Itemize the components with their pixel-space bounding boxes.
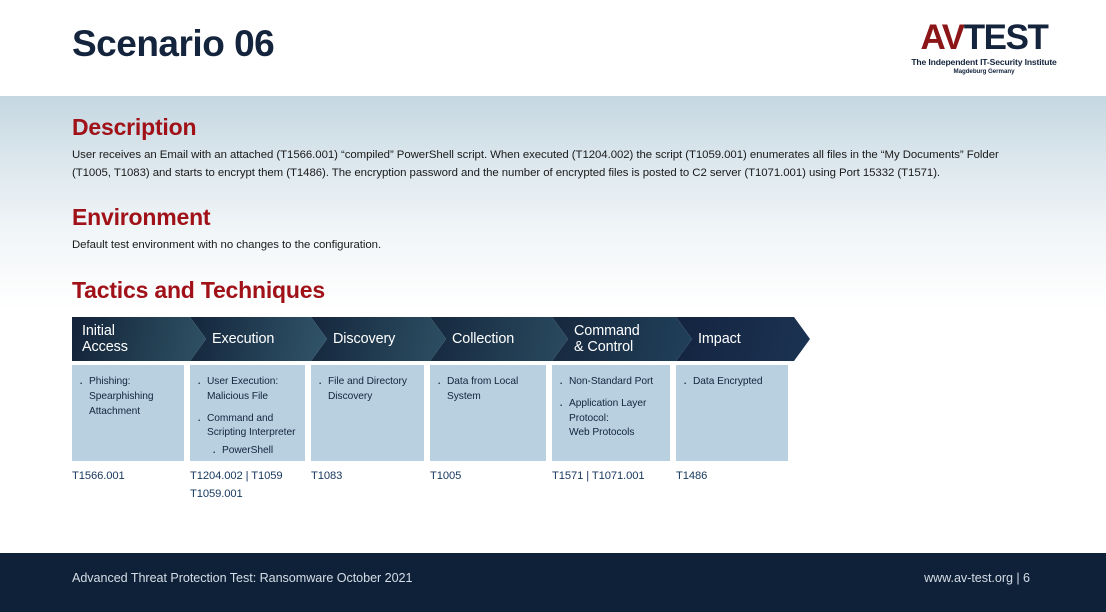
tactic-chevron: Impact <box>676 317 810 361</box>
technique-list: Data Encrypted <box>682 375 780 390</box>
tactic-label: Execution <box>200 331 274 347</box>
technique-item: Phishing: Spearphishing Attachment <box>78 375 176 419</box>
tactic-chevron: Collection <box>430 317 568 361</box>
logo-wordmark: AVTEST <box>904 20 1064 55</box>
technique-cell: Data Encrypted <box>676 365 788 461</box>
footer-url-and-page: www.av-test.org | 6 <box>924 571 1030 585</box>
av-test-logo: AVTEST The Independent IT-Security Insti… <box>904 20 1064 75</box>
environment-text: Default test environment with no changes… <box>72 237 1012 255</box>
technique-item: Application Layer Protocol: Web Protocol… <box>558 397 662 441</box>
technique-cell: File and Directory Discovery <box>311 365 424 461</box>
tactic-chevron-row: Initial AccessExecutionDiscoveryCollecti… <box>72 317 794 361</box>
logo-av-text: AV <box>920 18 963 57</box>
page-title: Scenario 06 <box>72 24 274 65</box>
description-text: User receives an Email with an attached … <box>72 147 1012 182</box>
tactics-and-techniques-heading: Tactics and Techniques <box>72 279 325 302</box>
tactic-label: Discovery <box>321 331 395 347</box>
tactic-chevron: Execution <box>190 317 327 361</box>
logo-tagline: The Independent IT-Security Institute <box>904 57 1064 67</box>
technique-cell: Non-Standard PortApplication Layer Proto… <box>552 365 670 461</box>
technique-item: Data from Local System <box>436 375 538 405</box>
tactic-label: Command & Control <box>562 323 640 355</box>
technique-list: Phishing: Spearphishing Attachment <box>78 375 176 419</box>
technique-item: Non-Standard Port <box>558 375 662 390</box>
tactic-label: Collection <box>440 331 514 347</box>
technique-id: T1486 <box>676 468 824 486</box>
tactic-chevron: Discovery <box>311 317 446 361</box>
technique-list: Non-Standard PortApplication Layer Proto… <box>558 375 662 441</box>
technique-item: Command and Scripting Interpreter <box>196 412 297 442</box>
technique-list: Data from Local System <box>436 375 538 405</box>
technique-cell: Phishing: Spearphishing Attachment <box>72 365 184 461</box>
tactics-techniques-table: Initial AccessExecutionDiscoveryCollecti… <box>72 317 794 507</box>
tactic-label: Impact <box>686 331 741 347</box>
technique-item: File and Directory Discovery <box>317 375 416 405</box>
technique-subitem: PowerShell <box>196 444 297 459</box>
slide-header: Scenario 06 AVTEST The Independent IT-Se… <box>0 0 1106 96</box>
technique-cells-row: Phishing: Spearphishing AttachmentUser E… <box>72 361 794 461</box>
environment-heading: Environment <box>72 206 210 229</box>
slide-footer: Advanced Threat Protection Test: Ransomw… <box>0 553 1106 612</box>
technique-cell: User Execution: Malicious FileCommand an… <box>190 365 305 461</box>
tactic-chevron: Command & Control <box>552 317 692 361</box>
description-heading: Description <box>72 116 196 139</box>
tactic-chevron: Initial Access <box>72 317 206 361</box>
technique-item: User Execution: Malicious File <box>196 375 297 405</box>
technique-list: File and Directory Discovery <box>317 375 416 405</box>
technique-ids-row: T1566.001T1204.002 | T1059 T1059.001T108… <box>72 468 832 508</box>
technique-cell: Data from Local System <box>430 365 546 461</box>
logo-test-text: TEST <box>964 18 1048 57</box>
slide-body: Description User receives an Email with … <box>0 96 1106 553</box>
technique-list: User Execution: Malicious FileCommand an… <box>196 375 297 459</box>
logo-city: Magdeburg Germany <box>904 68 1064 75</box>
tactic-label: Initial Access <box>82 323 128 355</box>
technique-item: Data Encrypted <box>682 375 780 390</box>
footer-test-name: Advanced Threat Protection Test: Ransomw… <box>72 571 412 585</box>
